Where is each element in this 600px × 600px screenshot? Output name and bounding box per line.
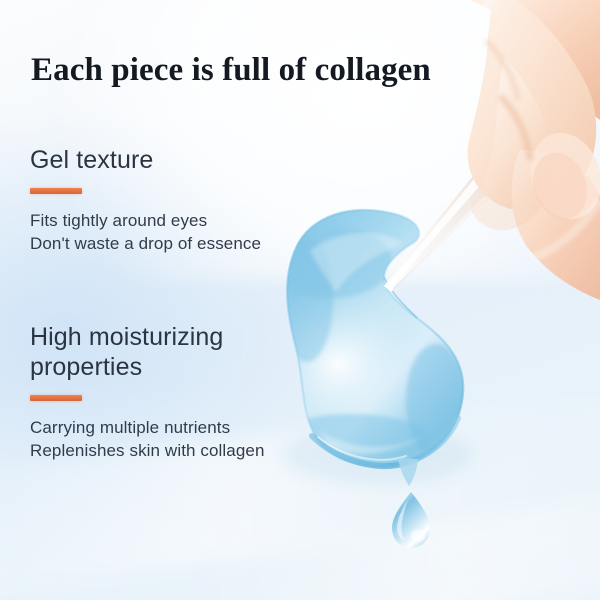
- section-body: Fits tightly around eyes Don't waste a d…: [30, 209, 261, 255]
- headline: Each piece is full of collagen: [31, 52, 431, 89]
- section-title: High moisturizing properties: [30, 322, 260, 382]
- marketing-banner: Each piece is full of collagen Gel textu…: [0, 0, 600, 600]
- feature-section-high-moisturizing: High moisturizing properties Carrying mu…: [30, 322, 265, 462]
- section-title-text: High moisturizing properties: [30, 323, 223, 381]
- accent-rule: [30, 395, 82, 401]
- body-line: Fits tightly around eyes: [30, 209, 261, 232]
- section-body: Carrying multiple nutrients Replenishes …: [30, 416, 265, 462]
- body-line: Carrying multiple nutrients: [30, 416, 265, 439]
- feature-section-gel-texture: Gel texture Fits tightly around eyes Don…: [30, 145, 261, 255]
- accent-rule: [30, 188, 82, 194]
- section-title: Gel texture: [30, 145, 261, 175]
- body-line: Don't waste a drop of essence: [30, 232, 261, 255]
- body-line: Replenishes skin with collagen: [30, 439, 265, 462]
